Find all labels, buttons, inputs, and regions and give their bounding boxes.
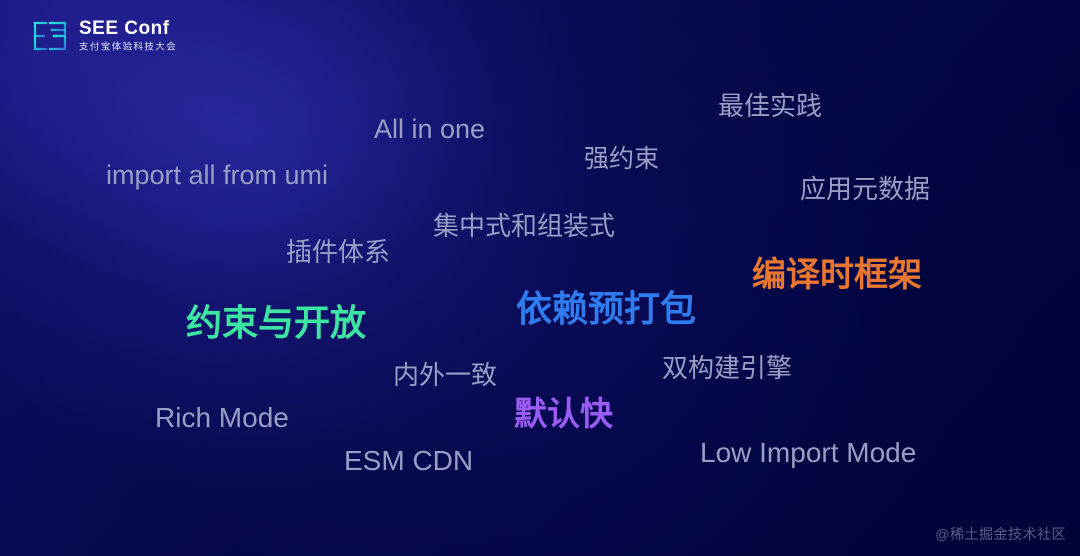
cloud-word: 应用元数据: [800, 176, 930, 202]
cloud-word: Low Import Mode: [700, 439, 916, 467]
cloud-word: 最佳实践: [718, 93, 822, 119]
slide-canvas: SEE Conf 支付宝体验科技大会 最佳实践All in one强约束impo…: [0, 0, 1080, 556]
cloud-word: 依赖预打包: [516, 291, 696, 327]
cloud-word: 强约束: [584, 147, 659, 172]
cloud-word: 双构建引擎: [662, 355, 792, 381]
cloud-word: 编译时框架: [752, 258, 922, 292]
cloud-word: 插件体系: [286, 239, 390, 265]
cloud-word: 默认快: [514, 397, 613, 430]
word-cloud: 最佳实践All in one强约束import all from umi应用元数…: [0, 0, 1080, 556]
watermark: @稀土掘金技术社区: [935, 524, 1066, 544]
cloud-word: ESM CDN: [344, 447, 473, 475]
cloud-word: All in one: [374, 116, 485, 143]
cloud-word: 集中式和组装式: [433, 213, 615, 239]
cloud-word: 约束与开放: [186, 305, 366, 341]
cloud-word: Rich Mode: [155, 404, 289, 432]
cloud-word: import all from umi: [106, 162, 328, 189]
cloud-word: 内外一致: [393, 362, 497, 388]
